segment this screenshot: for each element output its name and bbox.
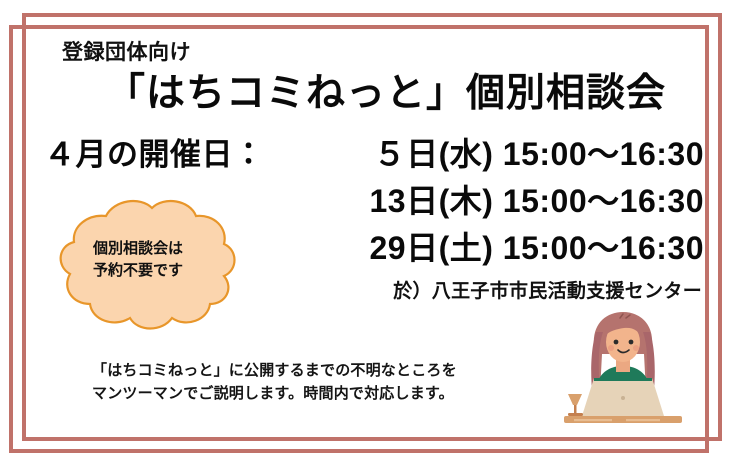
date-value-3: 29日(土) 15:00～16:30 — [370, 223, 705, 269]
woman-at-laptop-illustration — [548, 306, 698, 434]
dates-label: ４月の開催日： — [44, 129, 265, 174]
callout-text: 個別相談会は 予約不要です — [48, 238, 228, 282]
date-row: ４月の開催日： ５日(水) 15:00～16:30 — [44, 129, 704, 176]
callout-line-2: 予約不要です — [48, 260, 228, 282]
footnote-text: 「はちコミねっと」に公開するまでの不明なところを マンツーマンでご説明します。時… — [92, 360, 457, 405]
callout-cloud: 個別相談会は 予約不要です — [48, 194, 248, 344]
footnote-line-2: マンツーマンでご説明します。時間内で対応します。 — [92, 383, 457, 406]
poster-content: 登録団体向け 「はちコミねっと」個別相談会 ４月の開催日： ５日(水) 15:0… — [0, 0, 738, 462]
footnote-line-1: 「はちコミねっと」に公開するまでの不明なところを — [92, 360, 457, 383]
date-value-2: 13日(木) 15:00～16:30 — [370, 176, 705, 222]
poster-title: 「はちコミねっと」個別相談会 — [106, 62, 666, 118]
woman-laptop-icon — [548, 306, 698, 434]
poster-canvas: 登録団体向け 「はちコミねっと」個別相談会 ４月の開催日： ５日(水) 15:0… — [0, 0, 738, 462]
date-value-1: ５日(水) 15:00～16:30 — [374, 129, 704, 175]
callout-line-1: 個別相談会は — [48, 238, 228, 260]
